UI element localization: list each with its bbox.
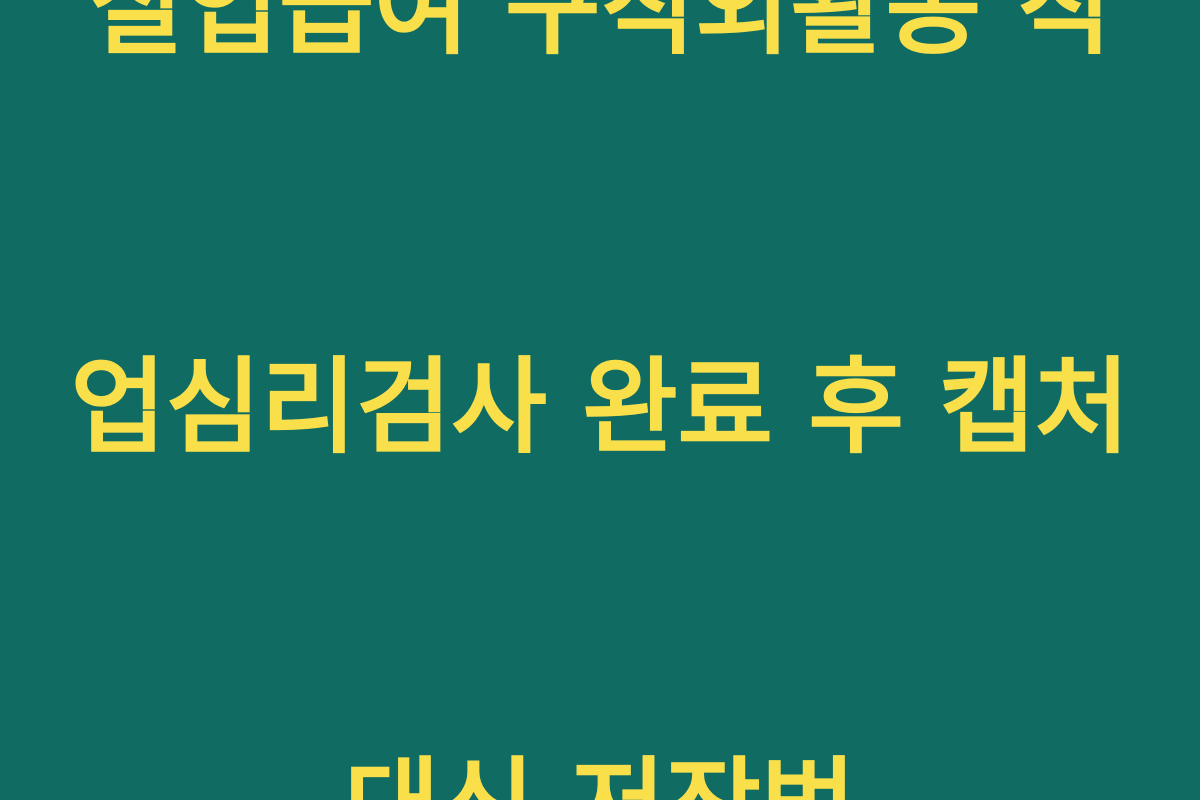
headline-line-3: 대신 저장법 [70, 741, 1130, 800]
headline-line-1: 실업급여 구직외활동 직 [70, 0, 1130, 75]
thumbnail-banner: 실업급여 구직외활동 직 업심리검사 완료 후 캡처 대신 저장법 [0, 0, 1200, 800]
headline-line-2: 업심리검사 완료 후 캡처 [70, 341, 1130, 474]
headline-text: 실업급여 구직외활동 직 업심리검사 완료 후 캡처 대신 저장법 [70, 0, 1130, 800]
